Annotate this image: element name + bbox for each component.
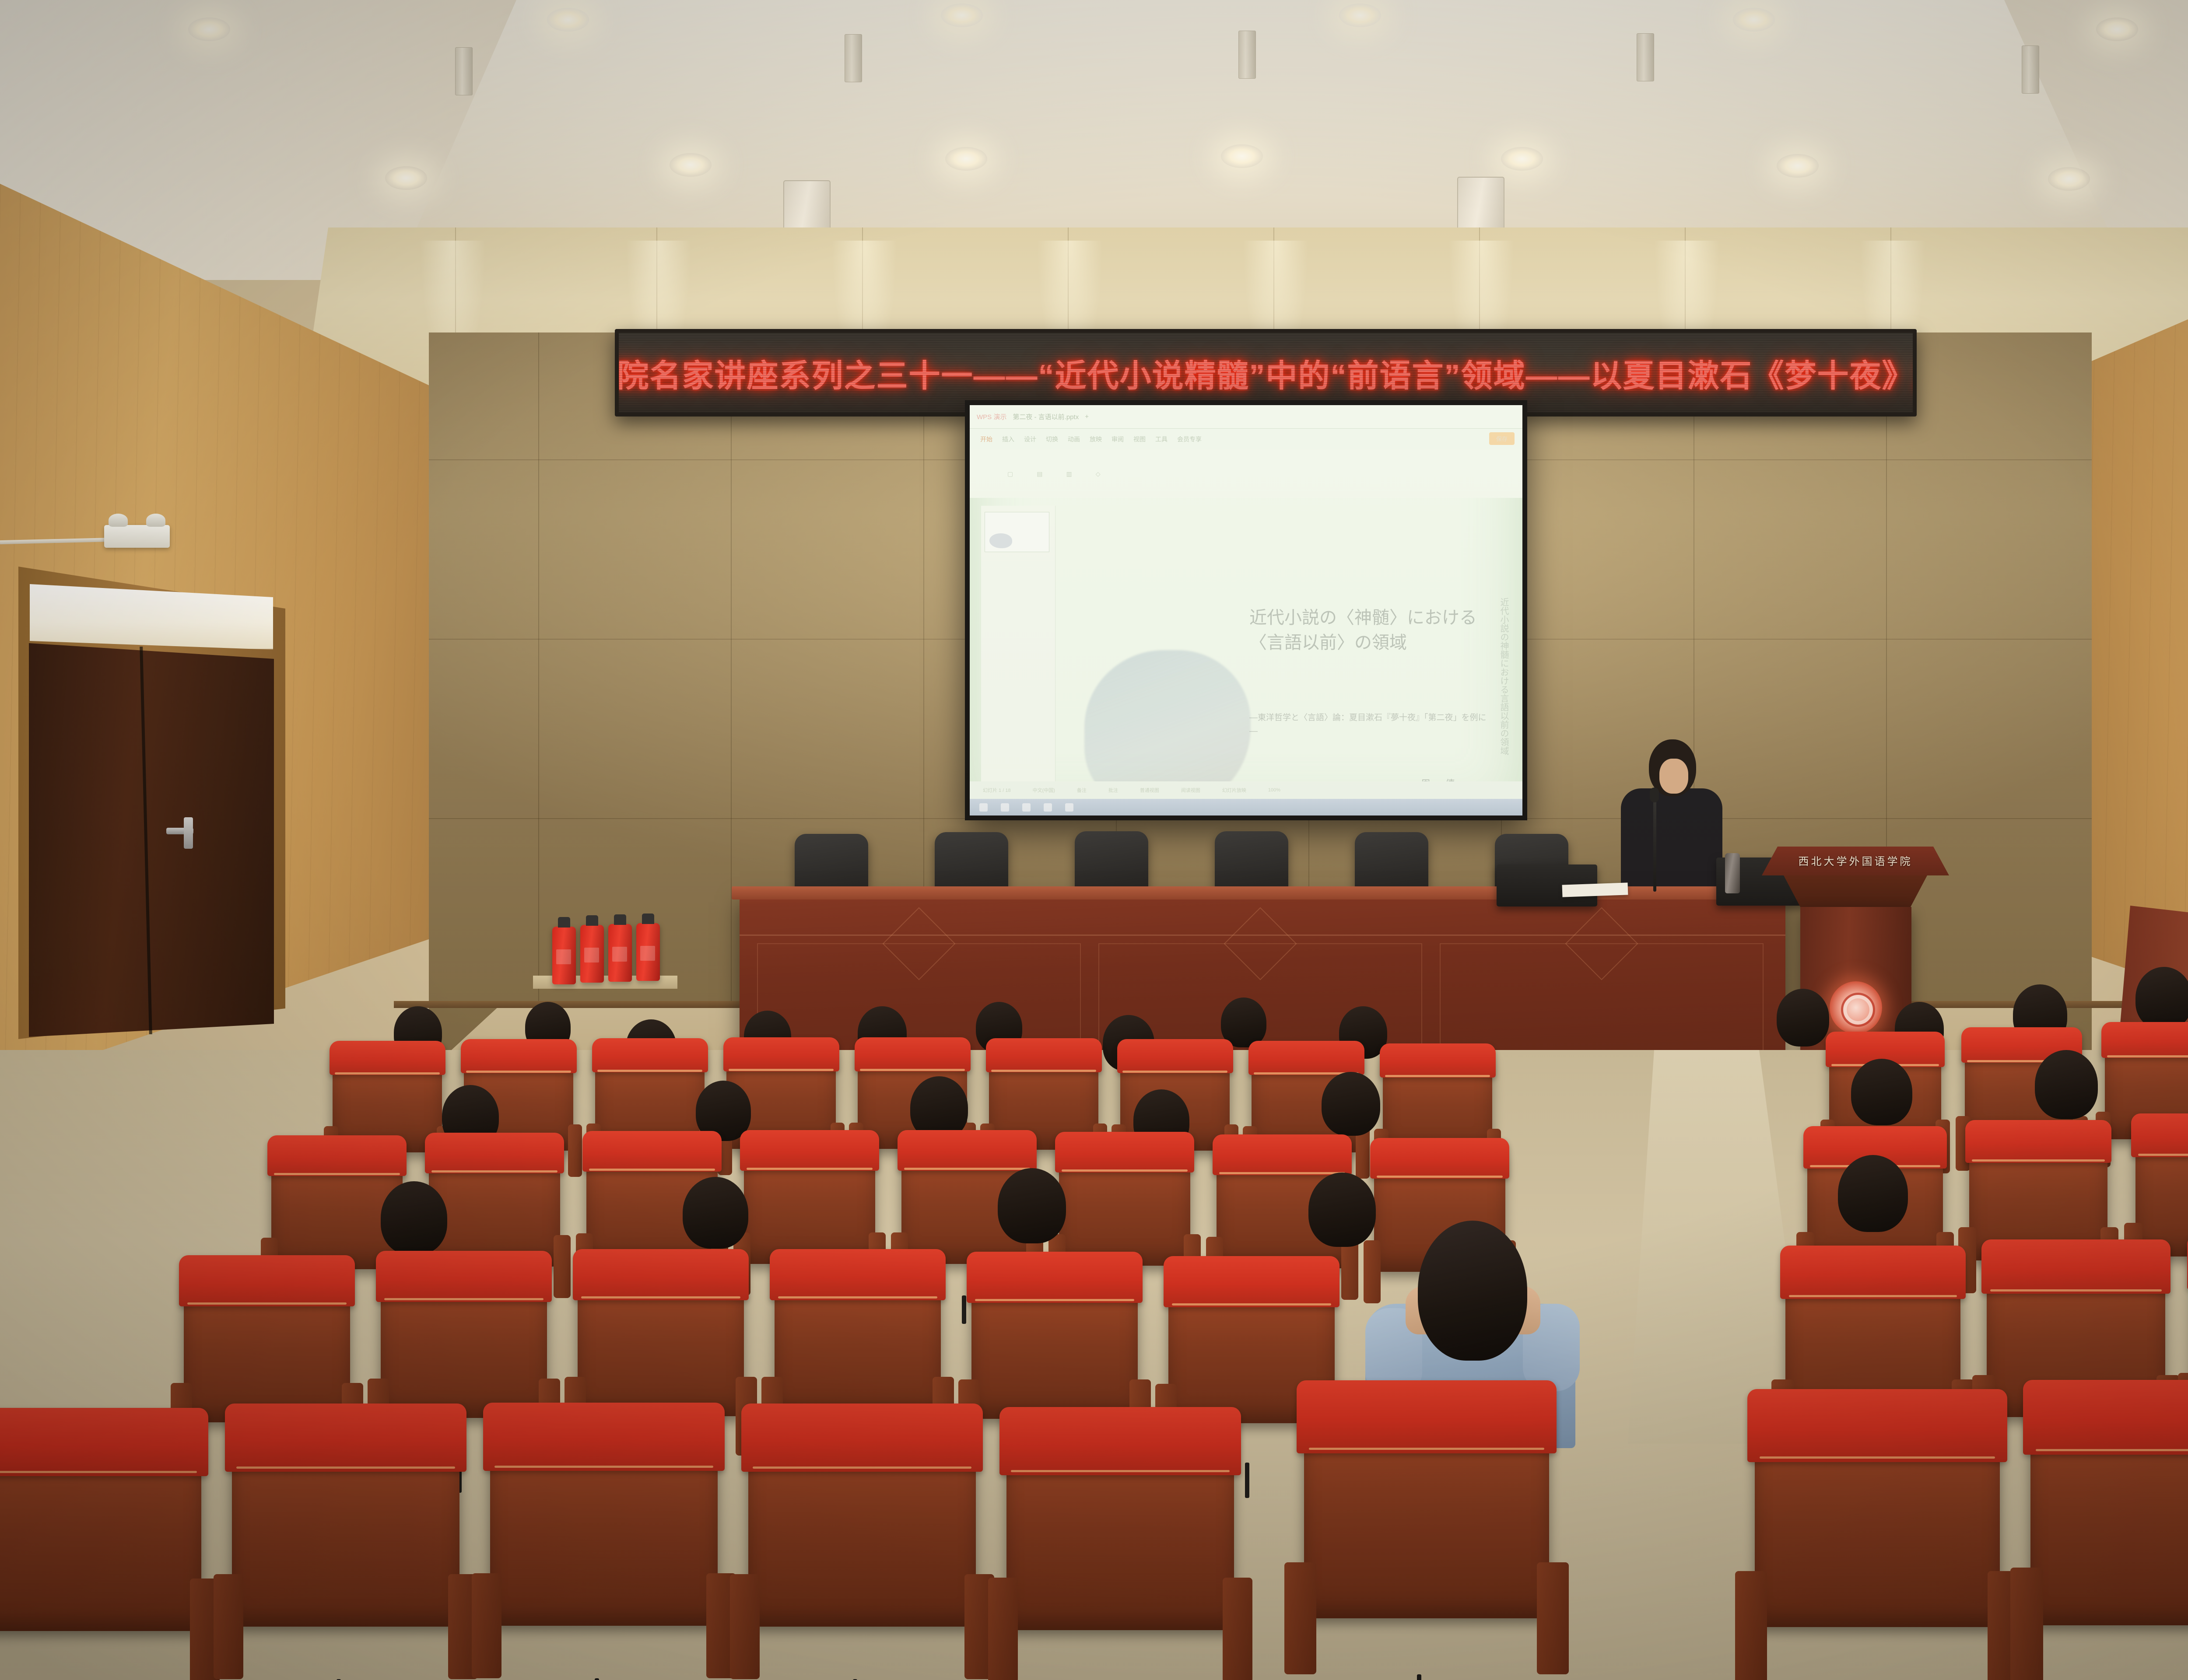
downlight [1777,154,1819,178]
university-emblem-icon [1830,981,1882,1034]
projection-screen: WPS 演示 第二夜 - 言语以前.pptx + 开始 插入 设计 切换 动画 … [965,400,1527,820]
downlight [1733,8,1775,31]
downlight [2096,17,2138,41]
auditorium-seat[interactable] [232,1422,459,1680]
status-slide-index: 幻灯片 1 / 18 [983,787,1011,794]
audience-person [381,1181,447,1255]
speaker-face [1659,759,1688,794]
textbox-icon[interactable]: ▥ [1066,470,1072,478]
status-zoom-level[interactable]: 100% [1268,787,1280,793]
ceiling-vent [1238,31,1256,79]
audience-person [1838,1155,1908,1232]
auditorium-seat[interactable] [1304,1400,1549,1680]
wps-taskbar-icon[interactable] [1044,803,1052,812]
ceiling-vent [2022,45,2039,94]
os-taskbar [970,799,1522,815]
ceiling-vent [1637,33,1654,81]
ribbon-menu-tools[interactable]: 工具 [1155,435,1168,444]
auditorium-seat[interactable] [1755,1409,2000,1680]
wps-new-tab[interactable]: + [1085,413,1089,420]
downlight [1221,144,1263,168]
audience-person [1777,989,1829,1046]
layout-icon[interactable]: ▤ [1037,470,1042,478]
ribbon-menu-start[interactable]: 开始 [980,435,992,444]
slide-vertical-note: 近代小説の神髄における言語以前の領域 [1496,598,1511,755]
status-notes[interactable]: 备注 [1077,787,1087,794]
speaker-papers [1562,882,1628,897]
ribbon-menu-transition[interactable]: 切换 [1046,435,1058,444]
slide-thumbnail-panel[interactable] [981,506,1055,781]
ribbon-menu-review[interactable]: 审阅 [1112,435,1124,444]
downlight [941,3,983,27]
wps-toolbar-icons: ▢ ▤ ▥ ◇ [970,450,1522,498]
ribbon-menu-member[interactable]: 会员专享 [1177,435,1202,444]
auditorium-seat[interactable] [490,1421,718,1680]
tray-icon[interactable] [1065,803,1073,812]
downlight [670,153,712,177]
new-slide-icon[interactable]: ▢ [1007,470,1013,478]
downlight [945,147,987,171]
start-menu-icon[interactable] [979,803,988,812]
microphone-stand [1653,801,1656,892]
shape-icon[interactable]: ◇ [1096,470,1101,478]
entry-double-door[interactable] [29,643,274,1037]
ceiling-vent [455,47,473,95]
audience-person [998,1168,1066,1243]
slide-canvas[interactable]: 近代小説の〈神髄〉における〈言語以前〉の領域 —東洋哲学と〈言語〉論：夏目漱石『… [1062,506,1503,781]
fire-extinguisher [636,923,660,981]
ribbon-menu-view[interactable]: 视图 [1133,435,1146,444]
downlight [1501,147,1543,171]
wps-app-tab[interactable]: WPS 演示 [977,412,1006,421]
downlight [188,17,230,41]
lectern-top: 西北大学外国语学院 [1762,847,1949,875]
status-slideshow[interactable]: 幻灯片放映 [1222,787,1246,794]
foreground-hair [1418,1221,1527,1361]
wps-file-tab[interactable]: 第二夜 - 言语以前.pptx [1013,412,1079,421]
fire-extinguisher [580,925,604,983]
water-bottle [1725,853,1740,893]
downlight [1339,3,1381,27]
status-reading-view[interactable]: 阅读视图 [1181,787,1200,794]
downlight [385,166,427,190]
speaker-person [1615,739,1729,897]
wps-titlebar: WPS 演示 第二夜 - 言语以前.pptx + [970,405,1522,429]
door-lock-plate [184,817,193,849]
fire-extinguisher [552,927,576,984]
microphone-head [1650,787,1659,802]
folder-icon[interactable] [1022,803,1031,812]
emergency-light [104,525,170,548]
status-language: 中文(中国) [1033,787,1055,794]
audience-person [2035,1050,2098,1119]
slide-subtitle: —東洋哲学と〈言語〉論：夏目漱石『夢十夜』「第二夜」を例に— [1249,711,1494,738]
fire-extinguisher [608,924,632,982]
wps-ribbon-menubar: 开始 插入 设计 切换 动画 放映 审阅 视图 工具 会员专享 [970,429,1522,450]
slide-thumbnail[interactable] [985,512,1049,552]
ribbon-menu-slideshow[interactable]: 放映 [1090,435,1102,444]
projected-desktop: WPS 演示 第二夜 - 言语以前.pptx + 开始 插入 设计 切换 动画 … [970,405,1522,815]
table-top-edge [732,886,1793,899]
downlight [547,8,589,31]
thumbnail-ink-art [989,533,1012,548]
audience-person [1851,1059,1912,1125]
auditorium-seat[interactable] [1006,1425,1234,1680]
browser-icon[interactable] [1001,803,1009,812]
status-normal-view[interactable]: 普通视图 [1140,787,1159,794]
ceiling-vent [845,34,862,82]
auditorium-seat[interactable] [0,1426,201,1680]
audience-person [683,1177,748,1249]
lecture-hall-photo: 西北大学外国语学院名家讲座系列之三十一——“近代小说精髓”中的“前语言”领域——… [0,0,2188,1680]
lectern-name-plate: 西北大学外国语学院 [1762,853,1949,868]
led-banner-text: 西北大学外国语学院名家讲座系列之三十一——“近代小说精髓”中的“前语言”领域——… [615,350,1917,396]
save-button[interactable]: 保存 [1489,432,1515,445]
wps-status-bar: 幻灯片 1 / 18 中文(中国) 备注 批注 普通视图 阅读视图 幻灯片放映 … [970,781,1522,799]
downlight [2048,167,2090,191]
auditorium-seat[interactable] [2030,1400,2188,1680]
ribbon-menu-animation[interactable]: 动画 [1068,435,1080,444]
speaker-torso [1621,788,1722,898]
lectern-neck [1784,875,1927,907]
auditorium-seat[interactable] [748,1422,976,1680]
audience-person [2135,967,2188,1029]
ribbon-menu-insert[interactable]: 插入 [1002,435,1014,444]
audience-person [1322,1072,1380,1136]
slide-title: 近代小説の〈神髄〉における〈言語以前〉の領域 [1249,605,1494,655]
ribbon-menu-design[interactable]: 设计 [1024,435,1036,444]
status-comments[interactable]: 批注 [1108,787,1118,794]
